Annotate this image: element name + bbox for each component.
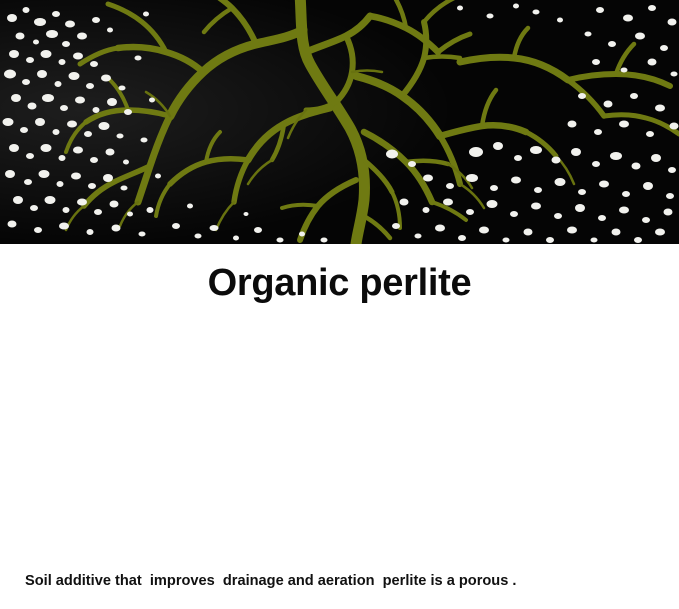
product-info-page: Organic perlite Soil additive that impro… [0,0,679,609]
paragraph-line: Soil additive that improves drainage and… [25,573,516,589]
roots-in-perlite-illustration [0,0,679,244]
hero-image [0,0,679,244]
paragraph-description-1: Soil additive that improves drainage and… [0,574,679,589]
content-section: Organic perlite Soil additive that impro… [0,244,679,609]
page-title: Organic perlite [0,244,679,302]
